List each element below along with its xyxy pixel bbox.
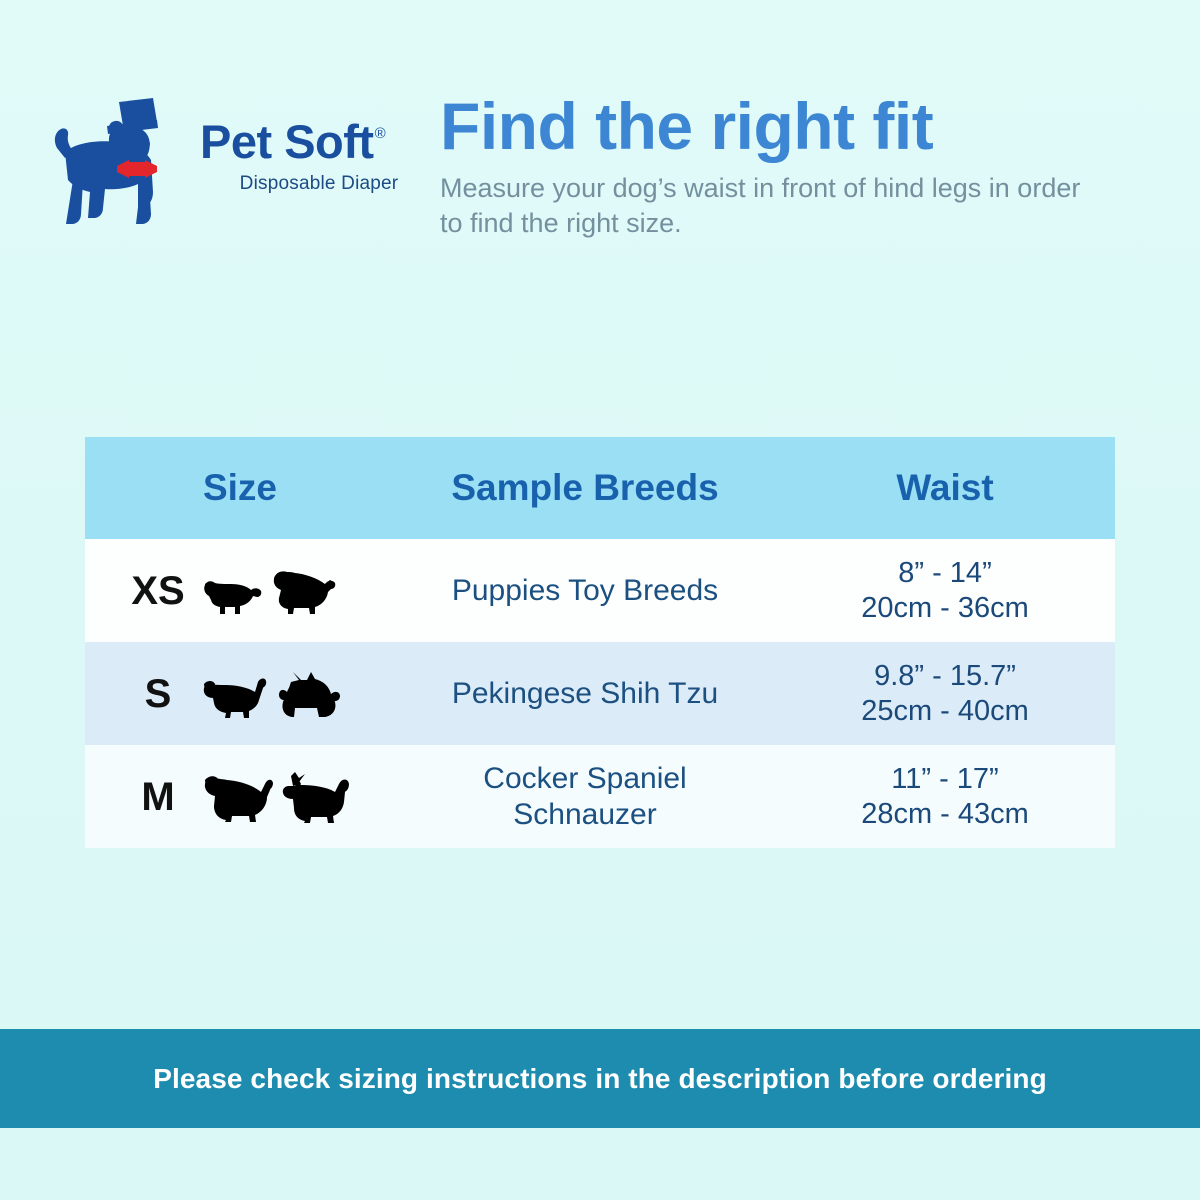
waist-cell-xs: 8” - 14” 20cm - 36cm: [775, 539, 1115, 642]
waist-cm-m: 28cm - 43cm: [775, 797, 1115, 832]
table-row: M: [85, 745, 1115, 848]
waist-inches-xs: 8” - 14”: [775, 556, 1115, 591]
column-header-waist: Waist: [775, 437, 1115, 539]
page-title: Find the right fit: [440, 92, 1120, 161]
small-walking-dog-silhouette-icon: [201, 672, 267, 720]
size-label-s: S: [115, 674, 201, 714]
spaniel-silhouette-icon: [269, 566, 337, 616]
breeds-cell-s: Pekingese Shih Tzu: [395, 642, 775, 745]
schnauzer-silhouette-icon: [273, 668, 345, 720]
breeds-line-2: Schnauzer: [513, 798, 656, 831]
size-cell-s: S: [85, 642, 395, 745]
breeds-cell-xs: Puppies Toy Breeds: [395, 539, 775, 642]
column-header-size: Size: [85, 437, 395, 539]
registered-trademark-icon: ®: [375, 125, 386, 142]
size-cell-xs: XS: [85, 539, 395, 642]
waist-cell-s: 9.8” - 15.7” 25cm - 40cm: [775, 642, 1115, 745]
breeds-line-1: Cocker Spaniel: [483, 762, 686, 795]
waist-cm-xs: 20cm - 36cm: [775, 591, 1115, 626]
waist-cm-s: 25cm - 40cm: [775, 694, 1115, 729]
page-subtitle: Measure your dog’s waist in front of hin…: [440, 171, 1090, 240]
dog-silhouette-pair-xs: [201, 566, 337, 616]
table-row: XS: [85, 539, 1115, 642]
column-header-breeds: Sample Breeds: [395, 437, 775, 539]
small-terrier-silhouette-icon: [201, 570, 263, 616]
retriever-silhouette-icon: [201, 770, 273, 824]
dog-silhouette-pair-m: [201, 770, 351, 824]
dog-silhouette-pair-s: [201, 668, 345, 720]
table-row: S: [85, 642, 1115, 745]
footer-notice-text: Please check sizing instructions in the …: [153, 1063, 1047, 1095]
dog-with-tophat-and-bowtie-logo-icon: [45, 96, 195, 236]
waist-inches-s: 9.8” - 15.7”: [775, 659, 1115, 694]
size-label-m: M: [115, 777, 201, 817]
brand-wordmark: Pet Soft® Disposable Diaper: [200, 118, 430, 195]
spitz-silhouette-icon: [279, 770, 351, 824]
brand-name: Pet Soft: [200, 118, 374, 165]
headline-block: Find the right fit Measure your dog’s wa…: [440, 92, 1120, 240]
header-section: Pet Soft® Disposable Diaper Find the rig…: [0, 0, 1200, 300]
brand-tagline: Disposable Diaper: [200, 173, 438, 195]
brand-logo-block: Pet Soft® Disposable Diaper: [45, 96, 425, 246]
waist-cell-m: 11” - 17” 28cm - 43cm: [775, 745, 1115, 848]
footer-banner: Please check sizing instructions in the …: [0, 1029, 1200, 1128]
breeds-cell-m: Cocker Spaniel Schnauzer: [395, 745, 775, 848]
size-chart-table: Size Sample Breeds Waist XS: [85, 437, 1115, 848]
size-cell-m: M: [85, 745, 395, 848]
size-label-xs: XS: [115, 571, 201, 611]
table-header-row: Size Sample Breeds Waist: [85, 437, 1115, 539]
waist-inches-m: 11” - 17”: [775, 762, 1115, 797]
